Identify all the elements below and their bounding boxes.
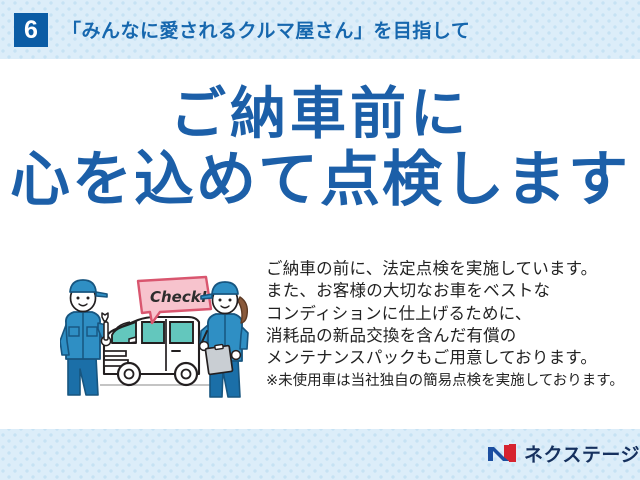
brand-name: ネクステージ <box>524 440 640 467</box>
nextage-n-mark-icon <box>487 441 517 465</box>
headline-line-1: ご納車前に <box>0 83 640 146</box>
mechanic-right <box>200 282 248 397</box>
clipboard-icon <box>205 344 232 374</box>
body-disclaimer-note: ※未使用車は当社独自の簡易点検を実施しております。 <box>266 370 624 392</box>
header-tagline: 「みんなに愛されるクルマ屋さん」を目指して <box>62 16 470 43</box>
section-number-badge: 6 <box>14 13 48 47</box>
headline-line-2: 心を込めて点検します <box>0 146 640 213</box>
van-illustration <box>100 317 210 385</box>
body-line-1: ご納車の前に、法定点検を実施しています。 <box>266 258 624 280</box>
body-copy: ご納車の前に、法定点検を実施しています。 また、お客様の大切なお車をベストな コ… <box>266 258 624 393</box>
content-panel: ご納車前に 心を込めて点検します <box>0 59 640 429</box>
speech-bubble-label: Check! <box>150 288 208 306</box>
body-line-4: 消耗品の新品交換を含んだ有償の <box>266 325 624 347</box>
body-line-2: また、お客様の大切なお車をベストな <box>266 280 624 302</box>
banner-header: 6 「みんなに愛されるクルマ屋さん」を目指して <box>0 0 640 59</box>
brand-logo: ネクステージ <box>487 440 640 466</box>
advertisement-banner: 6 「みんなに愛されるクルマ屋さん」を目指して ご納車前に 心を込めて点検します <box>0 0 640 480</box>
mechanics-inspecting-van-illustration: Check! <box>60 267 260 402</box>
body-line-3: コンディションに仕上げるために、 <box>266 303 624 325</box>
body-line-5: メンテナンスパックもご用意しております。 <box>266 347 624 369</box>
page-title: ご納車前に 心を込めて点検します <box>0 83 640 213</box>
mechanic-left <box>60 280 111 395</box>
